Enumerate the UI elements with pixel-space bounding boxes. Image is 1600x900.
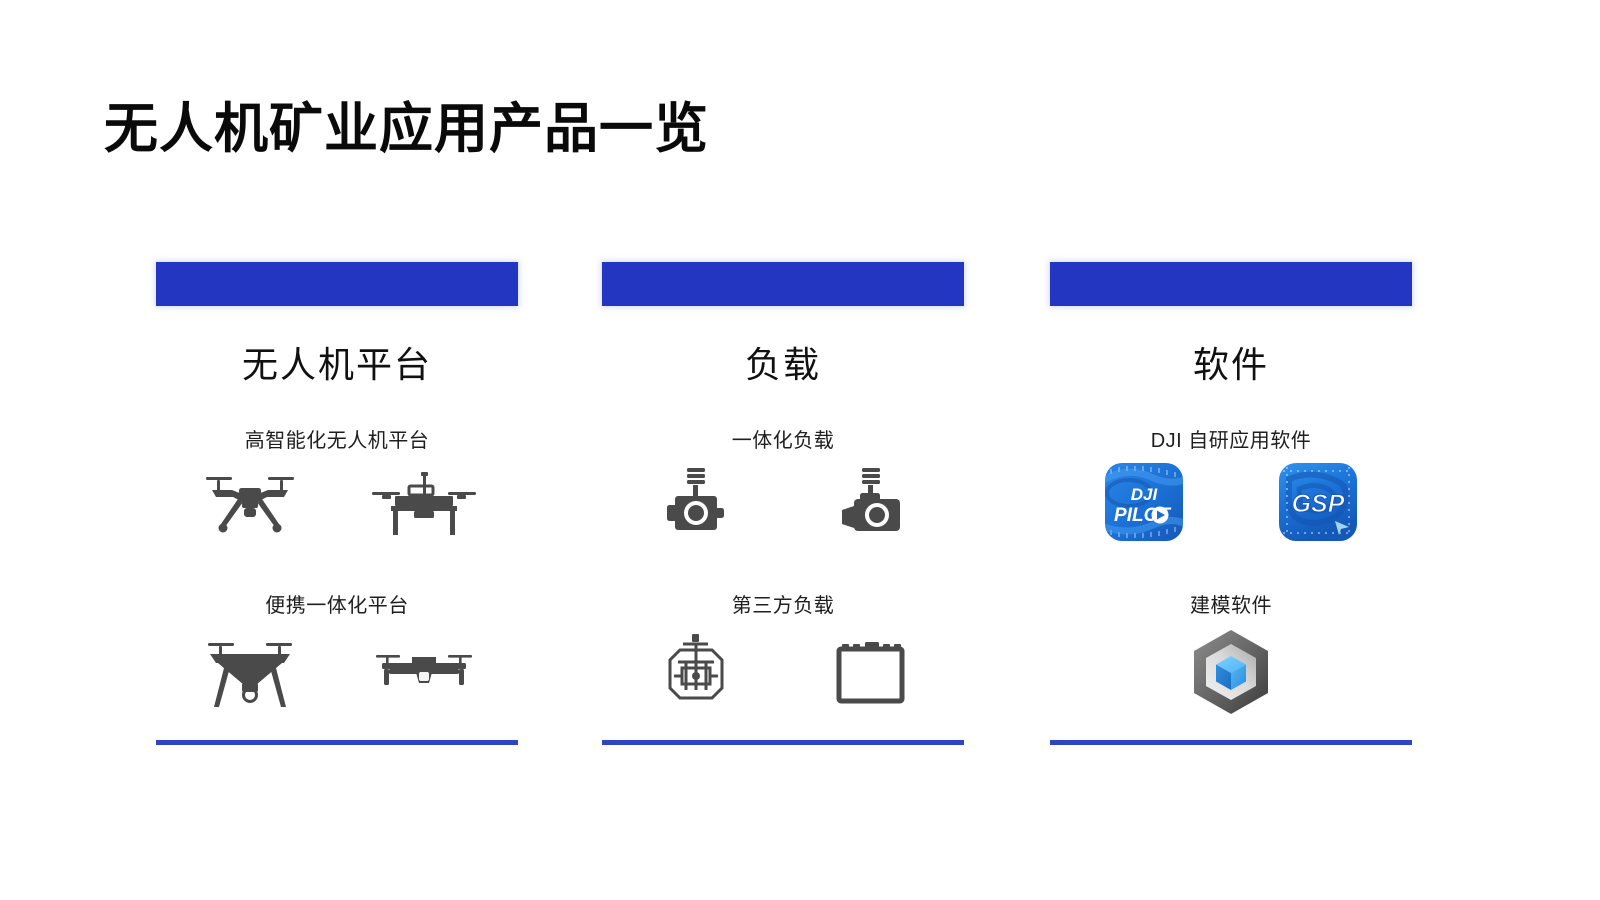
icon-row: DJI PILOT: [1050, 457, 1412, 547]
column-heading: 无人机平台: [156, 336, 518, 388]
slide-canvas: 无人机矿业应用产品一览 无人机平台 高智能化无人机平台: [0, 0, 1600, 900]
group-subtitle: 便携一体化平台: [156, 589, 518, 618]
column-underline: [156, 740, 518, 745]
column-uav-platform: 无人机平台 高智能化无人机平台: [156, 252, 518, 772]
drone-matrice-icon: [190, 459, 310, 545]
gimbal-camera-front-icon: [636, 459, 756, 545]
column-heading: 软件: [1050, 336, 1412, 388]
group-subtitle: 高智能化无人机平台: [156, 424, 518, 453]
column-payload: 负载 一体化负载: [602, 252, 964, 772]
icon-row: [602, 457, 964, 547]
gsp-label: GSP: [1292, 490, 1345, 518]
dji-pilot-app-icon[interactable]: DJI PILOT: [1084, 459, 1204, 545]
dji-pilot-line1: DJI: [1131, 485, 1159, 504]
multispectral-camera-icon: [810, 629, 930, 715]
icon-row: [602, 624, 964, 720]
column-header-bar: [156, 262, 518, 306]
icon-row: [156, 457, 518, 547]
icon-row: [156, 624, 518, 720]
group-subtitle: 建模软件: [1050, 589, 1412, 618]
page-title: 无人机矿业应用产品一览: [104, 98, 709, 160]
product-columns: 无人机平台 高智能化无人机平台: [0, 252, 1600, 772]
group-subtitle: 第三方负载: [602, 589, 964, 618]
column-underline: [602, 740, 964, 745]
context-capture-hex-icon: [1171, 629, 1291, 715]
column-heading: 负载: [602, 336, 964, 388]
group-subtitle: 一体化负载: [602, 424, 964, 453]
column-header-bar: [602, 262, 964, 306]
gsp-app-icon[interactable]: GSP: [1258, 459, 1378, 545]
column-underline: [1050, 740, 1412, 745]
drone-frame-platform-icon: [364, 459, 484, 545]
drone-phantom-icon: [190, 629, 310, 715]
drone-mavic-folding-icon: [364, 629, 484, 715]
column-software: 软件 DJI 自研应用软件: [1050, 252, 1412, 772]
column-header-bar: [1050, 262, 1412, 306]
lidar-sensor-icon: [636, 629, 756, 715]
gimbal-camera-side-icon: [810, 459, 930, 545]
group-subtitle: DJI 自研应用软件: [1050, 424, 1412, 453]
icon-row: [1050, 624, 1412, 720]
